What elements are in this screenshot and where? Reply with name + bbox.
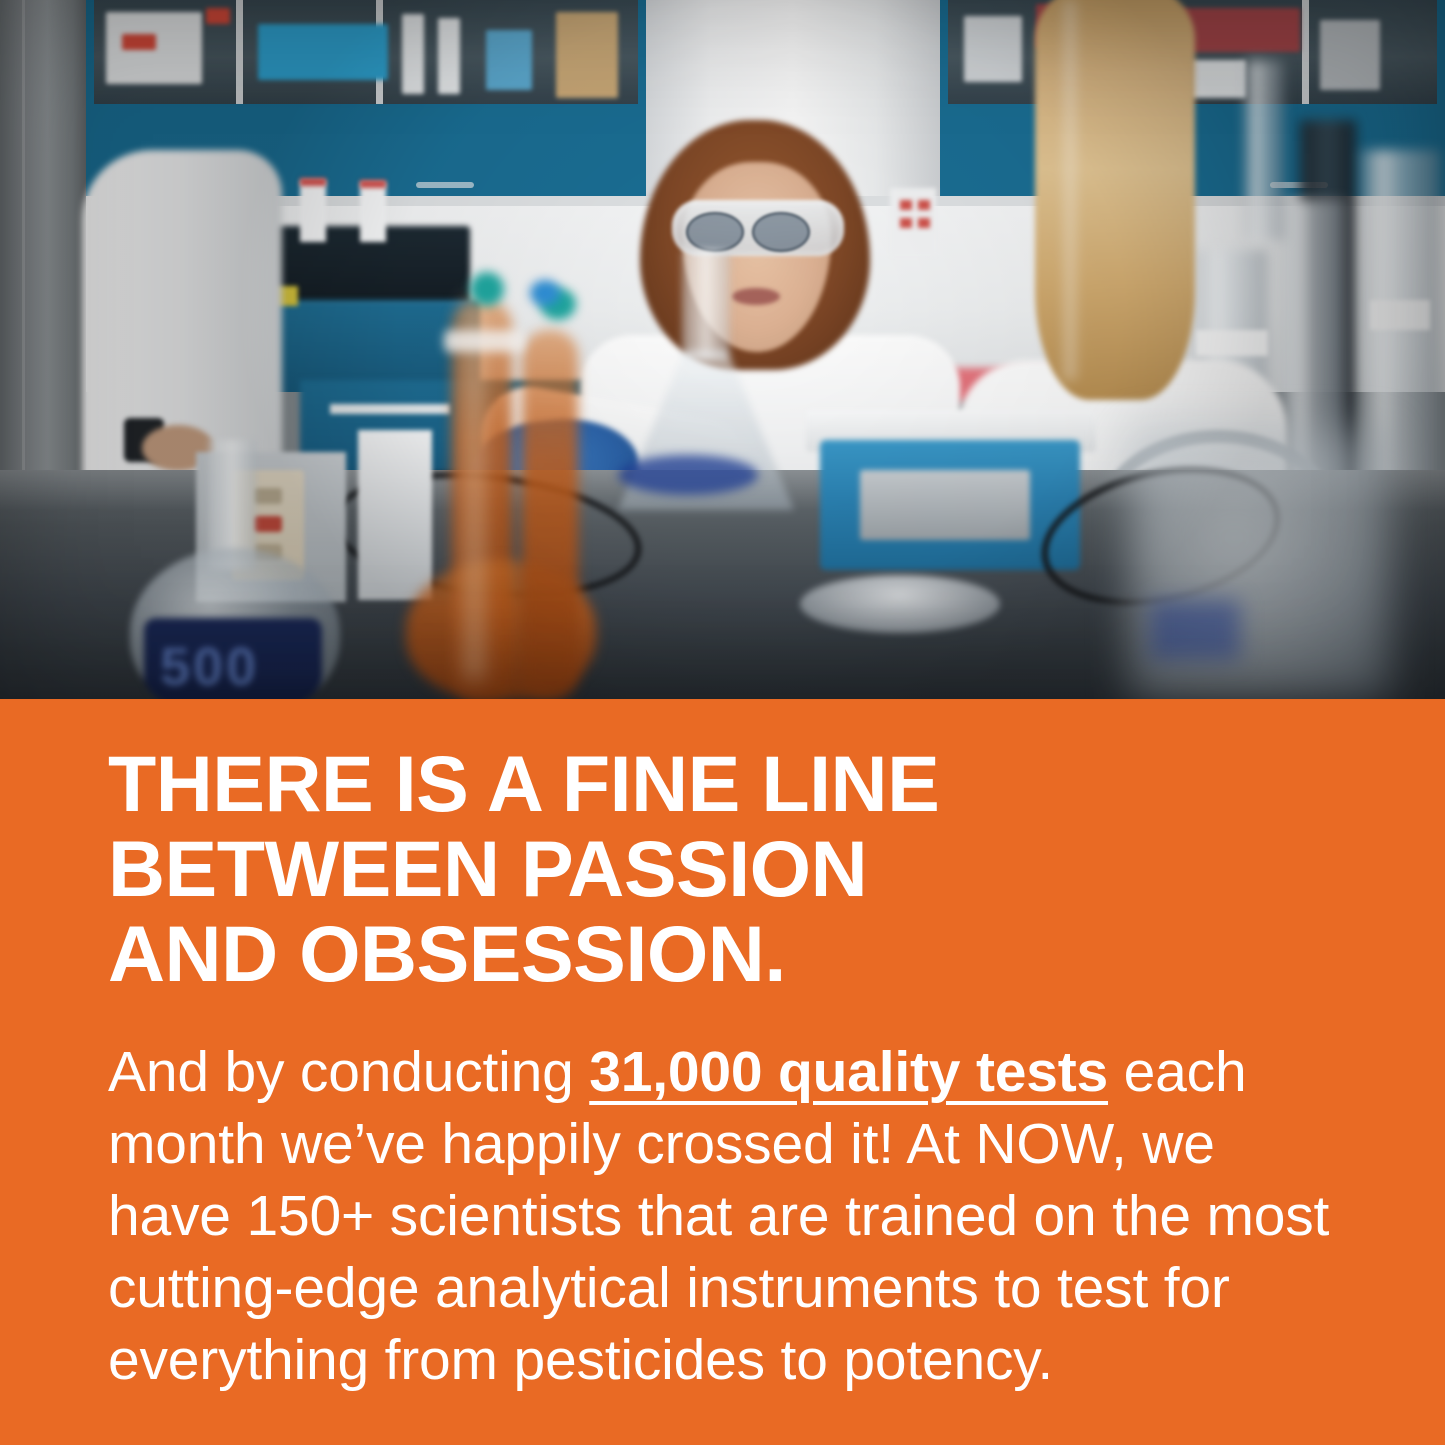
shelf-red-label [206, 8, 230, 24]
eyeglass-lens-right [752, 212, 810, 252]
shelf-blue-item [486, 30, 532, 90]
cabinet-mullion [236, 0, 243, 104]
body-text-before: And by conducting [108, 1040, 589, 1104]
page-title: THERE IS A FINE LINE BETWEEN PASSION AND… [108, 741, 1318, 996]
teal-vial-cap [470, 272, 504, 306]
blue-liquid-vial [1150, 600, 1240, 660]
quality-tests-highlight: 31,000 quality tests [589, 1040, 1108, 1104]
shelf-box-tan [556, 12, 618, 98]
laboratory-photo: 500 [0, 0, 1445, 699]
shelf-bottle [438, 18, 460, 94]
test-tube [300, 180, 326, 242]
shelf-grey-item [1320, 20, 1380, 90]
blue-vial-cap [530, 280, 560, 306]
flask-neck [682, 250, 730, 360]
shelf-blue-box [258, 24, 388, 80]
flask-stopper [444, 330, 524, 352]
white-bottle [358, 430, 432, 600]
volumetric-flask-500: 500 [120, 440, 350, 699]
test-tube [360, 182, 386, 242]
tube-cap-red [360, 180, 386, 188]
body-paragraph: And by conducting 31,000 quality tests e… [108, 1036, 1338, 1396]
cabinet-line [330, 404, 450, 414]
cabinet-mullion [1302, 0, 1309, 104]
blonde-hair [1035, 0, 1195, 400]
shelf-bottle [402, 14, 424, 94]
flask-volume-label: 500 [160, 636, 259, 698]
orange-text-panel: THERE IS A FINE LINE BETWEEN PASSION AND… [0, 699, 1445, 1445]
tube-cap-red [300, 178, 326, 186]
amber-highlight [466, 300, 482, 680]
blue-liquid [618, 455, 758, 495]
marketing-poster: 500 THERE IS A FINE LINE BETWEEN PASSION… [0, 0, 1445, 1445]
shelf-red-label [122, 34, 156, 50]
amber-flask-neck [522, 330, 578, 699]
glass-highlight [1370, 300, 1430, 330]
eyeglass-lens-left [686, 212, 744, 252]
cabinet-handle [416, 182, 474, 188]
watch-glass [800, 575, 1000, 633]
instrument-panel [860, 470, 1030, 540]
